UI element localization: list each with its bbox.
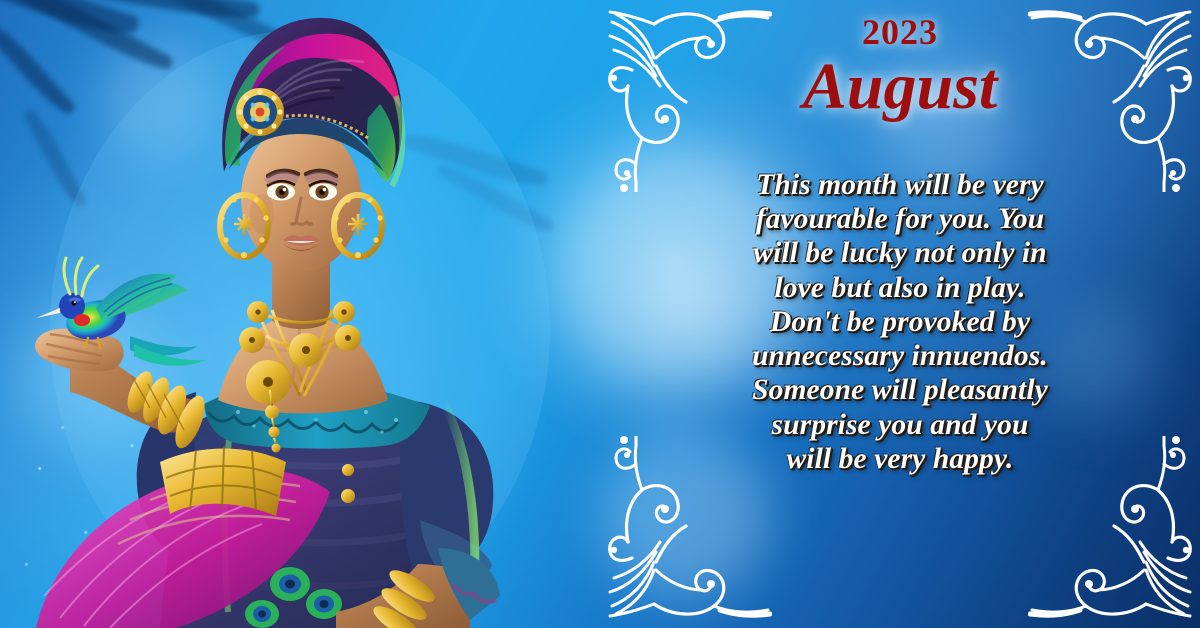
forecast-line: surprise you and you (672, 408, 1128, 442)
jeweled-brooch (236, 88, 284, 136)
forecast-line: Don't be provoked by (672, 305, 1128, 339)
forecast-line: This month will be very (672, 168, 1128, 202)
year-label: 2023 (600, 14, 1200, 50)
fortune-teller-illustration (0, 0, 600, 628)
forecast-line: unnecessary innuendos. (672, 339, 1128, 373)
horoscope-banner: 2023 August This month will be very favo… (0, 0, 1200, 628)
month-label: August (600, 52, 1200, 121)
eye-right (309, 181, 337, 200)
forecast-panel: 2023 August This month will be very favo… (600, 0, 1200, 628)
forecast-text: This month will be very favourable for y… (672, 168, 1128, 476)
forecast-line: will be lucky not only in (672, 236, 1128, 270)
forecast-line: Someone will pleasantly (672, 373, 1128, 407)
gold-arm-cuff (160, 446, 286, 516)
forecast-line: favourable for you. You (672, 202, 1128, 236)
eye-left (267, 181, 295, 200)
title-block: 2023 August (600, 14, 1200, 121)
forecast-line: love but also in play. (672, 271, 1128, 305)
forecast-line: will be very happy. (672, 442, 1128, 476)
